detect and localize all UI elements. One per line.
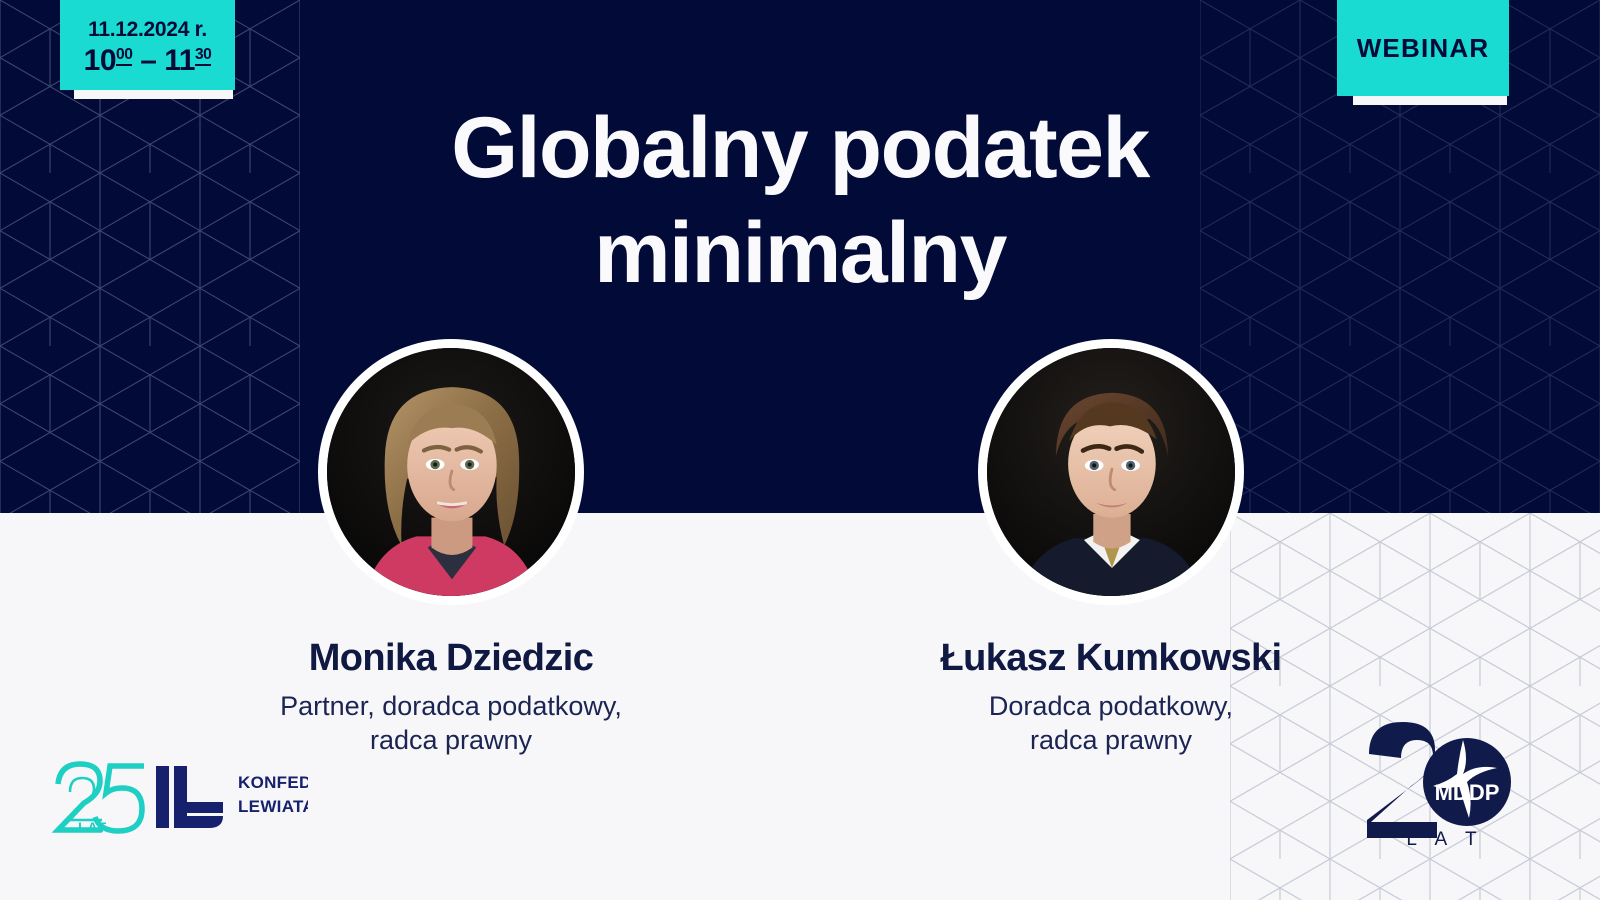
avatar-ring-1	[318, 339, 584, 605]
mddp-brand-text: MDDP	[1435, 780, 1500, 805]
page-title: Globalny podatek minimalny	[0, 96, 1600, 306]
speaker-name-2: Łukasz Kumkowski	[851, 638, 1371, 680]
webinar-time: 1000 – 1130	[70, 46, 225, 76]
logo-konfederacja-lewiatan: LAT KONFEDERACJA LEWIATAN	[48, 752, 308, 844]
speaker-role-1: Partner, doradca podatkowy, radca prawny	[191, 689, 711, 758]
speaker-role-2-line-1: Doradca podatkowy,	[851, 689, 1371, 724]
webinar-date: 11.12.2024 r.	[70, 18, 225, 41]
time-start-minutes: 00	[116, 46, 132, 66]
title-line-1: Globalny podatek	[0, 96, 1600, 201]
speaker-role-2: Doradca podatkowy, radca prawny	[851, 689, 1371, 758]
speaker-name-1: Monika Dziedzic	[191, 638, 711, 680]
time-range-dash: –	[140, 44, 156, 77]
avatar-monika-dziedzic	[327, 348, 575, 596]
lewiatan-name-line-2: LEWIATAN	[238, 797, 308, 816]
date-time-badge: 11.12.2024 r. 1000 – 1130	[60, 0, 235, 99]
speaker-card-1: Monika Dziedzic Partner, doradca podatko…	[191, 339, 711, 758]
webinar-poster: 11.12.2024 r. 1000 – 1130 WEBINAR Global…	[0, 0, 1600, 900]
avatar-lukasz-kumkowski	[987, 348, 1235, 596]
speaker-card-2: Łukasz Kumkowski Doradca podatkowy, radc…	[851, 339, 1371, 758]
time-end-minutes: 30	[195, 46, 211, 66]
time-start-hour: 10	[84, 44, 116, 77]
speaker-role-2-line-2: radca prawny	[851, 723, 1371, 758]
lewiatan-name-line-1: KONFEDERACJA	[238, 773, 308, 792]
svg-text:LAT: LAT	[78, 819, 107, 835]
avatar-ring-2	[978, 339, 1244, 605]
speaker-role-1-line-1: Partner, doradca podatkowy,	[191, 689, 711, 724]
webinar-type-badge: WEBINAR	[1337, 0, 1509, 105]
mddp-anniversary-word: L A T	[1406, 829, 1483, 850]
webinar-badge-label: WEBINAR	[1357, 33, 1490, 64]
title-line-2: minimalny	[0, 201, 1600, 306]
time-end-hour: 11	[164, 44, 195, 77]
logo-mddp-20-lat: MDDP L A T	[1355, 712, 1535, 852]
